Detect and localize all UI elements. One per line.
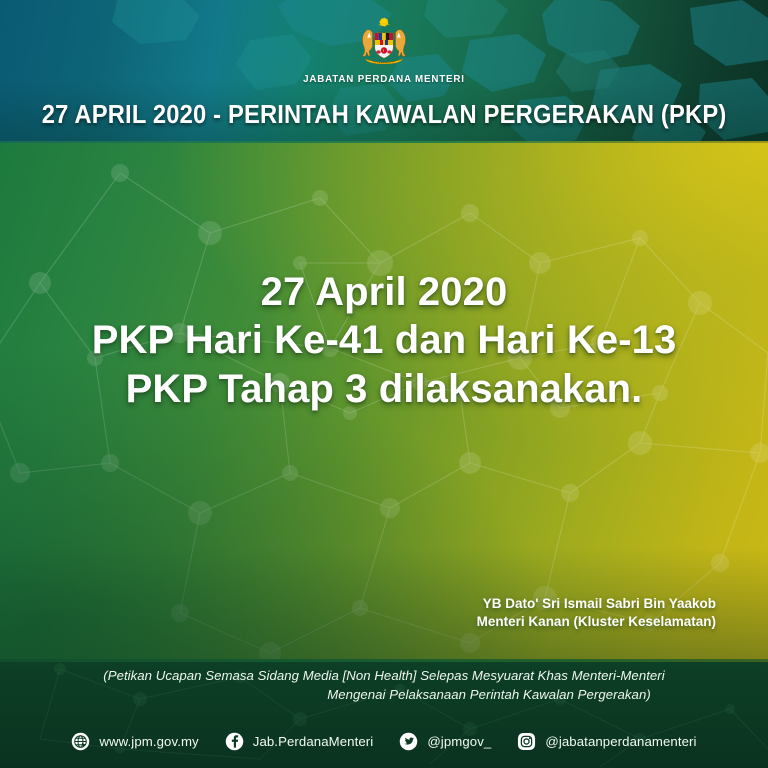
header-title: 27 APRIL 2020 - PERINTAH KAWALAN PERGERA… <box>42 101 727 130</box>
social-link-twitter[interactable]: @jpmgov_ <box>399 732 491 751</box>
department-identity: JABATAN PERDANA MENTERI <box>0 16 768 85</box>
instagram-icon <box>517 732 536 751</box>
social-label-website: www.jpm.gov.my <box>99 734 198 749</box>
headline-line-3: PKP Tahap 3 dilaksanakan. <box>0 365 768 413</box>
malaysia-coat-of-arms-icon <box>353 16 415 70</box>
headline-line-2: PKP Hari Ke-41 dan Hari Ke-13 <box>0 316 768 364</box>
headline-block: 27 April 2020 PKP Hari Ke-41 dan Hari Ke… <box>0 268 768 413</box>
footer-bar: (Petikan Ucapan Semasa Sidang Media [Non… <box>0 659 768 768</box>
social-links-bar: www.jpm.gov.my Jab.PerdanaMenteri <box>0 719 768 763</box>
attribution-name: YB Dato' Sri Ismail Sabri Bin Yaakob <box>477 595 716 613</box>
social-label-twitter: @jpmgov_ <box>427 734 491 749</box>
footer-top-edge <box>0 659 768 662</box>
social-link-facebook[interactable]: Jab.PerdanaMenteri <box>225 732 374 751</box>
facebook-icon <box>225 732 244 751</box>
attribution-title: Menteri Kanan (Kluster Keselamatan) <box>477 613 716 631</box>
department-name: JABATAN PERDANA MENTERI <box>303 73 465 85</box>
social-link-instagram[interactable]: @jabatanperdanamenteri <box>517 732 696 751</box>
caption-block: (Petikan Ucapan Semasa Sidang Media [Non… <box>0 667 768 704</box>
main-content-area: 27 April 2020 PKP Hari Ke-41 dan Hari Ke… <box>0 143 768 661</box>
social-link-website[interactable]: www.jpm.gov.my <box>71 732 198 751</box>
headline-line-1: 27 April 2020 <box>0 268 768 316</box>
attribution-block: YB Dato' Sri Ismail Sabri Bin Yaakob Men… <box>477 595 716 632</box>
twitter-icon <box>399 732 418 751</box>
social-label-facebook: Jab.PerdanaMenteri <box>253 734 374 749</box>
header-title-band: 27 APRIL 2020 - PERINTAH KAWALAN PERGERA… <box>0 101 768 130</box>
header-banner: JABATAN PERDANA MENTERI 27 APRIL 2020 - … <box>0 0 768 145</box>
globe-icon <box>71 732 90 751</box>
poster-canvas: JABATAN PERDANA MENTERI 27 APRIL 2020 - … <box>0 0 768 768</box>
social-label-instagram: @jabatanperdanamenteri <box>545 734 696 749</box>
caption-line-1: (Petikan Ucapan Semasa Sidang Media [Non… <box>0 667 768 686</box>
caption-line-2: Mengenai Pelaksanaan Perintah Kawalan Pe… <box>0 686 768 705</box>
